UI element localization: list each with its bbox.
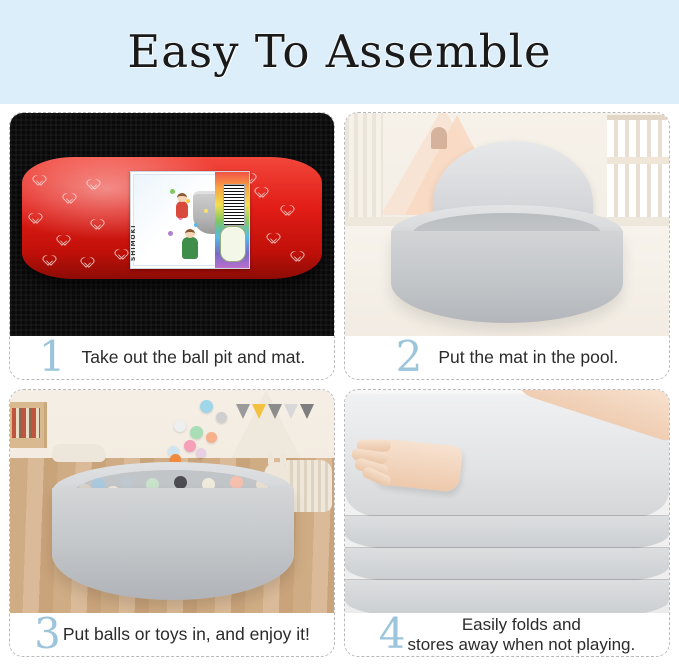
step-3-caption-text: Put balls or toys in, and enjoy it! <box>63 624 310 645</box>
product-package: Foam Ball Pit For Kids SHIMOKI <box>22 157 322 279</box>
step-card-3: 3 Put balls or toys in, and enjoy it! <box>9 389 335 657</box>
step-4-caption-text: Easily folds and stores away when not pl… <box>407 615 635 655</box>
step-4-photo <box>345 390 669 613</box>
page-title: Easy To Assemble <box>0 24 679 80</box>
step-4-caption-line-1: Easily folds and <box>462 615 581 634</box>
falling-ball <box>174 420 186 432</box>
curtain <box>345 113 383 221</box>
folded-pit-layer <box>345 548 669 582</box>
step-card-1: Foam Ball Pit For Kids SHIMOKI <box>9 112 335 380</box>
step-4-caption: 4 Easily folds and stores away when not … <box>345 613 669 656</box>
step-3-photo <box>10 390 334 613</box>
plush-dog-toy <box>52 444 106 462</box>
step-2-number: 2 <box>396 336 423 378</box>
crib-rail <box>607 157 669 164</box>
label-seal <box>220 226 246 262</box>
step-3-caption: 3 Put balls or toys in, and enjoy it! <box>10 613 334 656</box>
bunting-flags <box>236 404 322 420</box>
step-4-caption-line-2: stores away when not playing. <box>407 635 635 654</box>
falling-ball <box>184 440 196 452</box>
label-kid-illustration-1 <box>176 201 188 218</box>
infographic-page: Easy To Assemble <box>0 0 679 664</box>
folded-pit-layer <box>345 516 669 550</box>
books <box>12 408 40 438</box>
step-1-photo: Foam Ball Pit For Kids SHIMOKI <box>10 113 334 336</box>
ball-pit-wall <box>52 488 294 600</box>
step-4-number: 4 <box>379 613 406 655</box>
label-barcode <box>223 184 245 226</box>
step-2-caption: 2 Put the mat in the pool. <box>345 336 669 379</box>
step-card-4: 4 Easily folds and stores away when not … <box>344 389 670 657</box>
falling-ball <box>206 432 217 443</box>
step-2-caption-text: Put the mat in the pool. <box>438 347 618 368</box>
falling-ball <box>200 400 213 413</box>
step-1-number: 1 <box>39 336 66 378</box>
crib <box>607 115 669 232</box>
teepee-door <box>431 127 447 149</box>
step-1-caption-text: Take out the ball pit and mat. <box>81 347 305 368</box>
step-2-photo <box>345 113 669 336</box>
step-card-2: 2 Put the mat in the pool. <box>344 112 670 380</box>
falling-ball <box>196 448 206 458</box>
package-label: Foam Ball Pit For Kids SHIMOKI <box>130 171 250 269</box>
steps-grid: Foam Ball Pit For Kids SHIMOKI <box>9 112 670 658</box>
step-1-caption: 1 Take out the ball pit and mat. <box>10 336 334 379</box>
hand <box>367 437 463 492</box>
label-kid-illustration-2 <box>182 237 198 259</box>
step-3-number: 3 <box>34 613 61 655</box>
falling-ball <box>190 426 203 439</box>
package-brand: SHIMOKI <box>130 224 137 261</box>
falling-ball <box>216 412 227 423</box>
ball-pit-wall <box>391 231 623 323</box>
